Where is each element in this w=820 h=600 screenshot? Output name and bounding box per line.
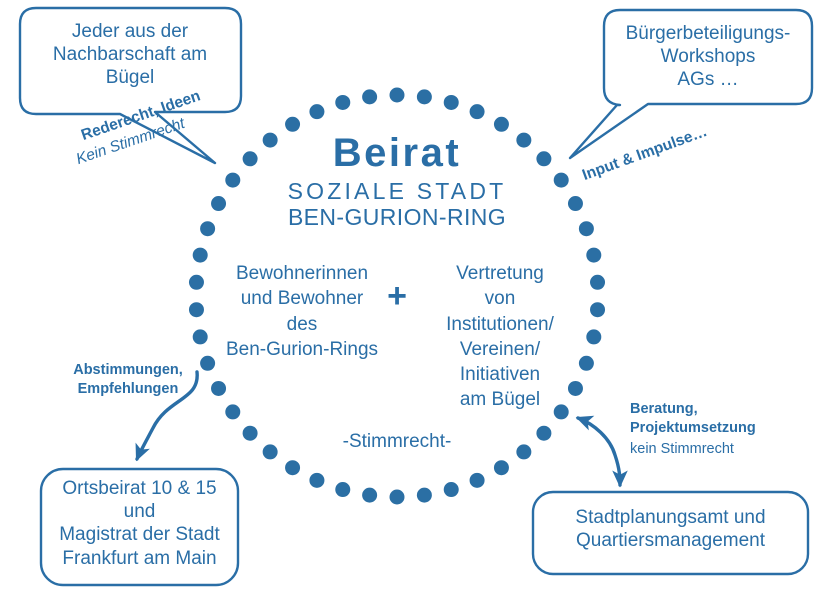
ring-dot [586, 248, 601, 263]
ring-dot [193, 248, 208, 263]
ring-dot [309, 473, 324, 488]
ring-dot [516, 444, 531, 459]
arrow-label-beratung: Beratung, Projektumsetzung [630, 400, 820, 437]
center-footer-stimmrecht: -Stimmrecht- [297, 430, 497, 453]
ring-dot [390, 88, 405, 103]
box-bottom-right-text: Stadtplanungsamt und Quartiersmanagement [533, 506, 808, 552]
arrow-label-kein-stimmrecht: kein Stimmrecht [630, 440, 820, 459]
plus-symbol: + [382, 279, 412, 313]
ring-dot [263, 444, 278, 459]
ring-dot [309, 104, 324, 119]
ring-dot [470, 104, 485, 119]
ring-dot [579, 221, 594, 236]
ring-dot [200, 221, 215, 236]
ring-dot [211, 196, 226, 211]
ring-dot [590, 275, 605, 290]
ring-dot [417, 89, 432, 104]
ring-dot [390, 490, 405, 505]
ring-dot [225, 404, 240, 419]
ring-dot [335, 482, 350, 497]
center-right-column: Vertretung von Institutionen/ Vereinen/ … [414, 261, 586, 413]
center-title: Beirat [247, 129, 547, 178]
ring-dot [243, 426, 258, 441]
ring-dot [554, 173, 569, 188]
ring-dot [590, 302, 605, 317]
ring-dot [494, 460, 509, 475]
ring-dot [470, 473, 485, 488]
center-subtitle-line2: BEN-GURION-RING [247, 203, 547, 231]
ring-dot [444, 482, 459, 497]
ring-dot [189, 275, 204, 290]
ring-dot [444, 95, 459, 110]
ring-dot [536, 426, 551, 441]
ring-dot [189, 302, 204, 317]
box-bottom-left-text: Ortsbeirat 10 & 15 und Magistrat der Sta… [41, 477, 238, 570]
speech-bubble-top-left-text: Jeder aus der Nachbarschaft am Bügel [26, 20, 234, 90]
speech-bubble-top-right-text: Bürgerbeteiligungs- Workshops AGs … [608, 22, 808, 92]
ring-dot [568, 196, 583, 211]
ring-dot [225, 173, 240, 188]
ring-dot [193, 329, 208, 344]
ring-dot [362, 89, 377, 104]
center-subtitle-line1: SOZIALE STADT [247, 177, 547, 205]
ring-dot [335, 95, 350, 110]
ring-dot [362, 488, 377, 503]
arrow-beratung [578, 418, 620, 485]
ring-dot [417, 488, 432, 503]
diagram-canvas: Jeder aus der Nachbarschaft am Bügel Red… [0, 0, 820, 600]
ring-dot [586, 329, 601, 344]
ring-dot [285, 460, 300, 475]
ring-dot [211, 381, 226, 396]
center-left-column: Bewohnerinnen und Bewohner des Ben-Gurio… [212, 261, 392, 362]
arrow-label-abstimmungen: Abstimmungen, Empfehlungen [48, 361, 208, 398]
